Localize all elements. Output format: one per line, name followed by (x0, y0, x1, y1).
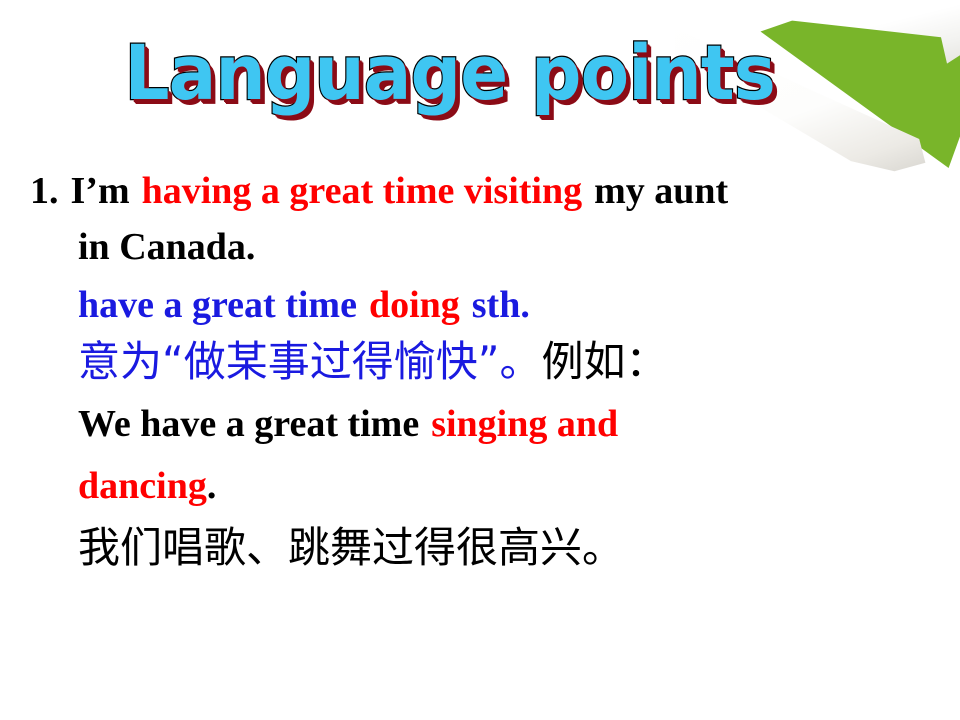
line4-segment-b: 例如： (542, 337, 668, 386)
text-line-4: 意为“做某事过得愉快”。例如： (30, 333, 940, 395)
line1-segment-a: I’m (71, 170, 130, 212)
line3-segment-b: doing (369, 284, 460, 326)
title-area: Language points (0, 34, 900, 112)
line4-segment-a: 意为“做某事过得愉快”。 (78, 337, 542, 386)
text-line-1: 1.I’mhaving a great time visitingmy aunt (30, 165, 940, 219)
text-line-2: in Canada. (30, 219, 940, 277)
line3-segment-a: have a great time (78, 284, 357, 326)
page-title: Language points (125, 34, 775, 112)
line6-segment-b: . (207, 465, 217, 507)
text-line-5: We have a great timesinging and (30, 395, 940, 457)
line2-segment-a: in Canada. (78, 226, 255, 268)
line6-segment-a: dancing (78, 465, 207, 507)
slide-canvas: Language points 1.I’mhaving a great time… (0, 0, 960, 720)
body-text-block: 1.I’mhaving a great time visitingmy aunt… (30, 165, 940, 581)
line1-segment-c: my aunt (594, 170, 728, 212)
text-line-7: 我们唱歌、跳舞过得很高兴。 (30, 519, 940, 581)
text-line-3: have a great timedoingsth. (30, 277, 940, 333)
list-number: 1. (30, 165, 59, 217)
line1-segment-b: having a great time visiting (142, 170, 583, 212)
line5-segment-b: singing and (431, 403, 618, 445)
text-line-6: dancing. (30, 457, 940, 519)
line7-segment-a: 我们唱歌、跳舞过得很高兴。 (78, 523, 624, 572)
line5-segment-a: We have a great time (78, 403, 419, 445)
line3-segment-c: sth. (472, 284, 530, 326)
